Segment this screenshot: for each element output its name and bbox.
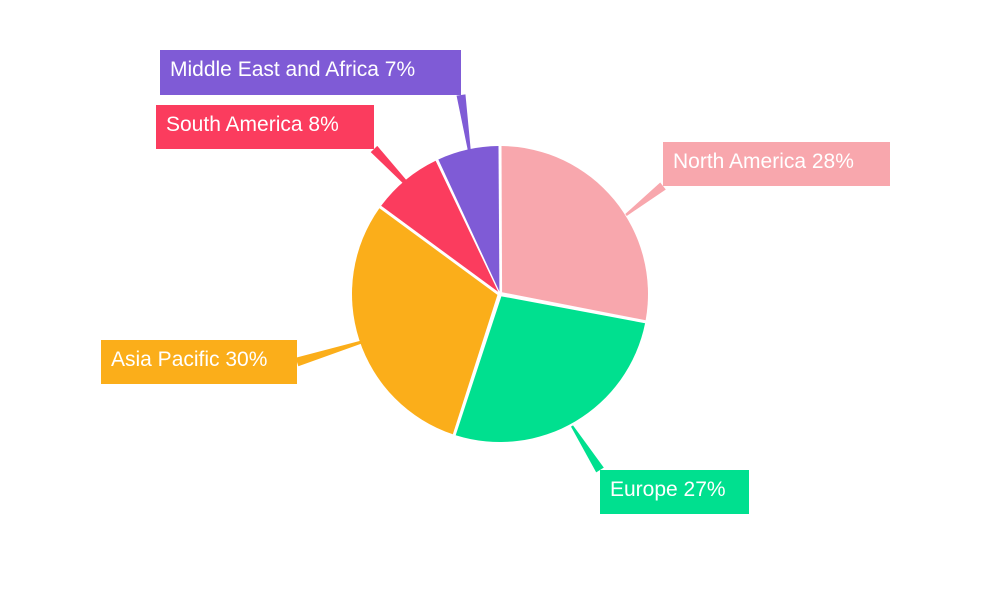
slice-label[interactable]: North America 28%	[663, 142, 890, 186]
slice-label[interactable]: Middle East and Africa 7%	[160, 50, 461, 95]
pie-chart-svg	[0, 0, 1000, 600]
chart-background	[0, 0, 1000, 600]
slice-label[interactable]: Europe 27%	[600, 470, 749, 514]
slice-label[interactable]: South America 8%	[156, 105, 374, 149]
pie-chart-canvas: North America 28%Europe 27%Asia Pacific …	[0, 0, 1000, 600]
slice-label[interactable]: Asia Pacific 30%	[101, 340, 297, 384]
